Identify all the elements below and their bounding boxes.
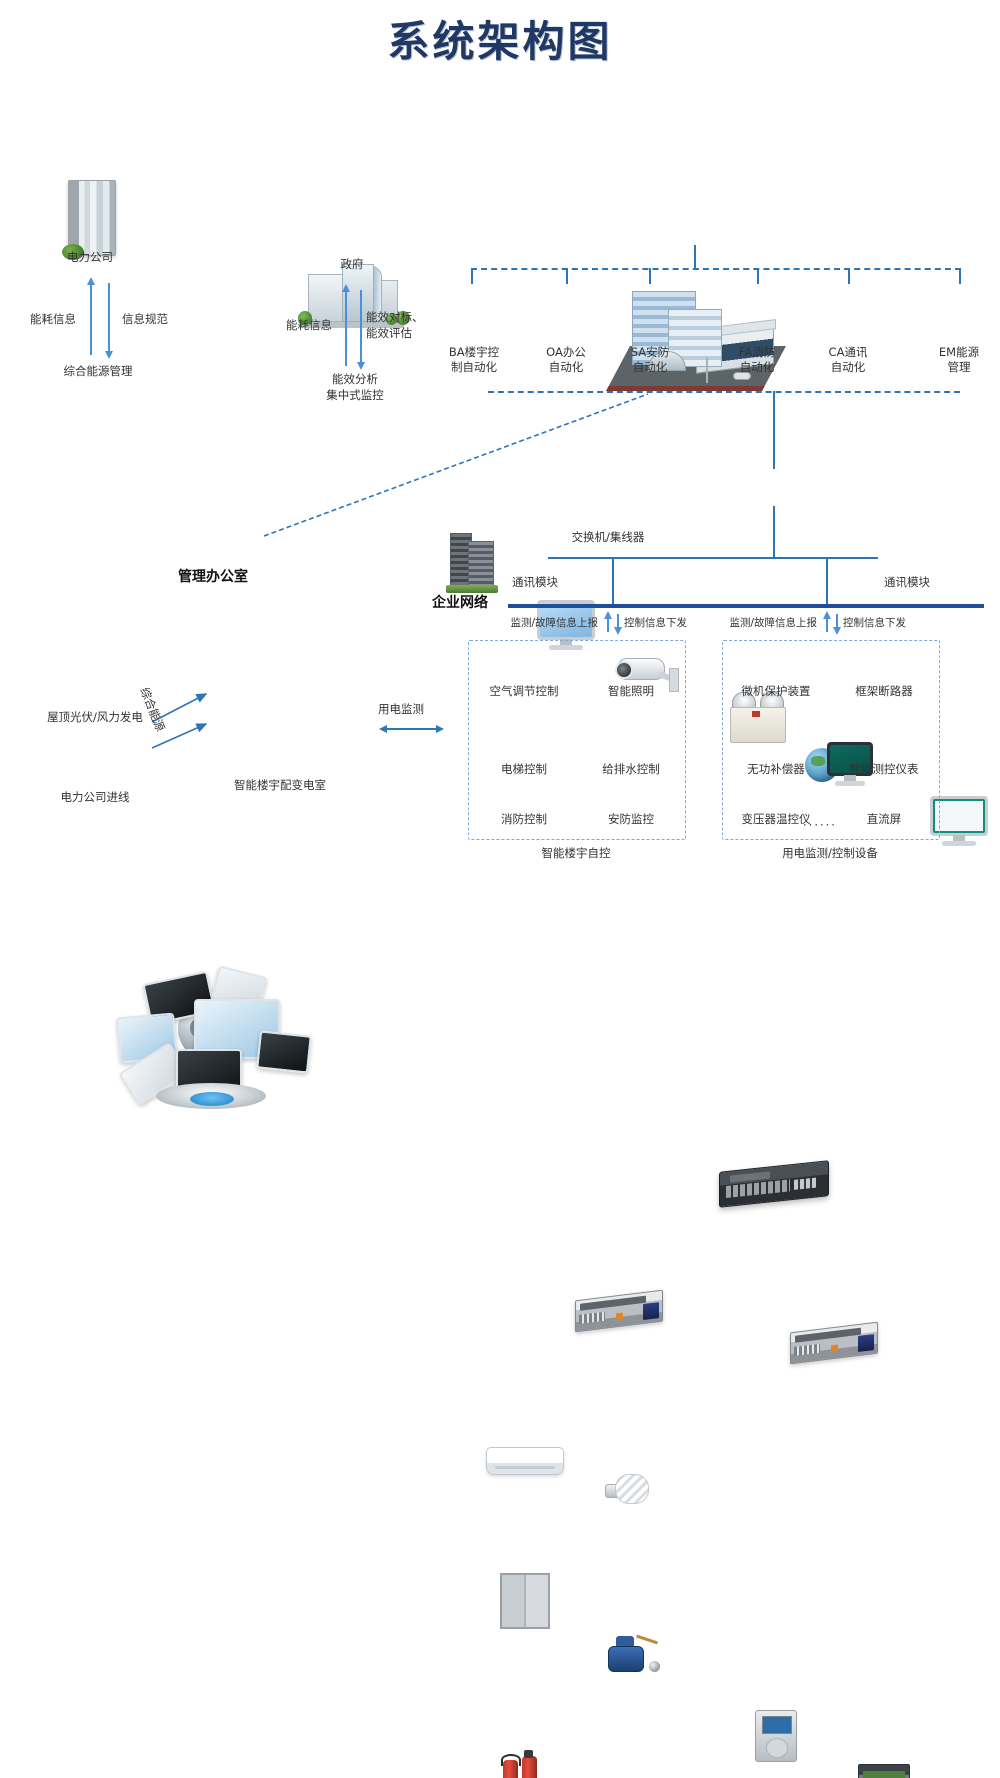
page-title: 系统架构图 xyxy=(0,8,1000,69)
management-office-link xyxy=(250,380,670,550)
comm-module-right-label: 通讯模块 xyxy=(872,575,942,590)
elevator-icon xyxy=(500,1573,550,1629)
subsystem-oa-line1: OA办公 xyxy=(546,345,586,359)
device-label-elevator: 电梯控制 xyxy=(478,762,570,777)
comm-left-drop-line xyxy=(612,557,614,607)
power-monitoring-caption: 用电监测/控制设备 xyxy=(740,846,920,861)
subsystem-oa-label: OA办公 自动化 xyxy=(526,345,606,375)
comm-distribution-line xyxy=(548,557,878,559)
gov-down-arrow-label-line2: 能效评估 xyxy=(366,326,440,341)
flow-up-arrow-right xyxy=(826,618,828,632)
device-label-lighting: 智能照明 xyxy=(585,684,677,699)
gov-down-arrow-head xyxy=(357,362,365,370)
cfl-bulb-icon xyxy=(605,1472,649,1516)
air-circuit-breaker-icon xyxy=(858,1764,910,1778)
device-label-relay: 微机保护装置 xyxy=(730,684,822,699)
flow-up-arrowhead-right xyxy=(823,611,831,619)
subsystem-fa-line2: 自动化 xyxy=(740,360,775,374)
flow-down-arrowhead-left xyxy=(614,627,622,635)
gov-up-arrow-label: 能耗信息 xyxy=(278,318,340,333)
power-monitoring-arrowhead-right xyxy=(436,725,444,733)
subsystem-ba-line1: BA楼宇控 xyxy=(449,345,499,359)
network-switch-icon xyxy=(719,1160,829,1208)
building-automation-group-box xyxy=(468,640,686,840)
enterprise-network-bar xyxy=(508,604,984,608)
integrated-energy-management-label: 综合能源管理 xyxy=(28,364,168,379)
management-office-label: 管理办公室 xyxy=(120,570,306,585)
building-drop-line xyxy=(694,245,696,269)
device-label-smart-meter: 智能测控仪表 xyxy=(838,762,930,777)
device-label-water: 给排水控制 xyxy=(585,762,677,777)
subsystem-em-line1: EM能源 xyxy=(939,345,979,359)
fire-extinguisher-icon xyxy=(500,1748,544,1778)
flow-down-arrow-right xyxy=(836,614,838,628)
power-up-arrow-label: 能耗信息 xyxy=(22,312,84,327)
power-company-label: 电力公司 xyxy=(40,250,140,265)
subsystem-fa-label: FA消防 自动化 xyxy=(717,345,797,375)
drop-line-oa xyxy=(566,268,568,284)
enterprise-network-label: 企业网络 xyxy=(432,596,502,611)
gov-down-arrow-line xyxy=(360,290,362,364)
subsystem-ca-label: CA通讯 自动化 xyxy=(808,345,888,375)
gov-up-arrow-line xyxy=(345,292,347,366)
water-valve-icon xyxy=(602,1632,660,1676)
switch-uplink-line xyxy=(773,391,775,469)
flow-down-arrow-left xyxy=(617,614,619,628)
drop-line-em xyxy=(959,268,961,284)
subsystem-oa-line2: 自动化 xyxy=(549,360,584,374)
power-down-arrow-label: 信息规范 xyxy=(114,312,176,327)
subsystem-ba-line2: 制自动化 xyxy=(451,360,497,374)
device-label-security: 安防监控 xyxy=(585,812,677,827)
gov-down-arrow-label-line1: 能效对标、 xyxy=(366,310,440,325)
flow-down-label-right: 控制信息下发 xyxy=(843,616,933,630)
communication-module-right-icon xyxy=(790,1322,878,1365)
subsystem-fa-line1: FA消防 xyxy=(739,345,775,359)
power-up-arrow-head xyxy=(87,277,95,285)
substation-label: 智能楼宇配变电室 xyxy=(200,778,360,793)
power-up-arrow-line xyxy=(90,285,92,355)
gov-up-arrow-head xyxy=(342,284,350,292)
power-down-arrow-line xyxy=(108,283,110,353)
protection-relay-icon xyxy=(755,1710,797,1762)
subsystem-sa-line1: SA安防 xyxy=(631,345,669,359)
device-label-ac: 空气调节控制 xyxy=(478,684,570,699)
communication-module-left-icon xyxy=(575,1290,663,1333)
drop-line-sa xyxy=(649,268,651,284)
switch-downlink-line xyxy=(773,506,775,558)
comm-right-drop-line xyxy=(826,557,828,607)
flow-up-arrowhead-left xyxy=(604,611,612,619)
subsystem-sa-label: SA安防 自动化 xyxy=(610,345,690,375)
device-label-fire: 消防控制 xyxy=(478,812,570,827)
grid-feed-label: 电力公司进线 xyxy=(20,790,170,805)
device-label-breaker: 框架断路器 xyxy=(838,684,930,699)
device-label-dc-panel: 直流屏 xyxy=(838,812,930,827)
subsystem-sa-line2: 自动化 xyxy=(633,360,668,374)
flow-down-arrowhead-right xyxy=(833,627,841,635)
subsystem-ba-label: BA楼宇控 制自动化 xyxy=(432,345,516,375)
subsystem-ca-line2: 自动化 xyxy=(831,360,866,374)
government-label: 政府 xyxy=(302,257,402,272)
flow-up-label-left: 监测/故障信息上报 xyxy=(478,616,598,630)
building-automation-caption: 智能楼宇自控 xyxy=(496,846,656,861)
subsystem-em-label: EM能源 管理 xyxy=(919,345,999,375)
multi-screen-globe-icon xyxy=(118,971,308,1111)
power-monitoring-arrowhead-left xyxy=(379,725,387,733)
power-monitoring-arrow-line xyxy=(386,728,436,730)
power-monitoring-arrow-label: 用电监测 xyxy=(356,702,446,717)
power-down-arrow-head xyxy=(105,351,113,359)
drop-line-ba xyxy=(471,268,473,284)
air-conditioner-icon xyxy=(486,1447,564,1475)
flow-up-arrow-left xyxy=(607,618,609,632)
group-ellipsis: ······ xyxy=(790,818,850,833)
power-monitoring-group-box xyxy=(722,640,940,840)
switch-label: 交换机/集线器 xyxy=(528,530,688,545)
drop-line-fa xyxy=(757,268,759,284)
power-company-icon xyxy=(68,180,1000,256)
comm-module-left-label: 通讯模块 xyxy=(500,575,570,590)
subsystem-ca-line1: CA通讯 xyxy=(829,345,868,359)
flow-up-label-right: 监测/故障信息上报 xyxy=(697,616,817,630)
device-label-compensator: 无功补偿器 xyxy=(730,762,822,777)
subsystem-em-line2: 管理 xyxy=(948,360,971,374)
drop-line-ca xyxy=(848,268,850,284)
subsystem-bus-line xyxy=(471,268,961,270)
